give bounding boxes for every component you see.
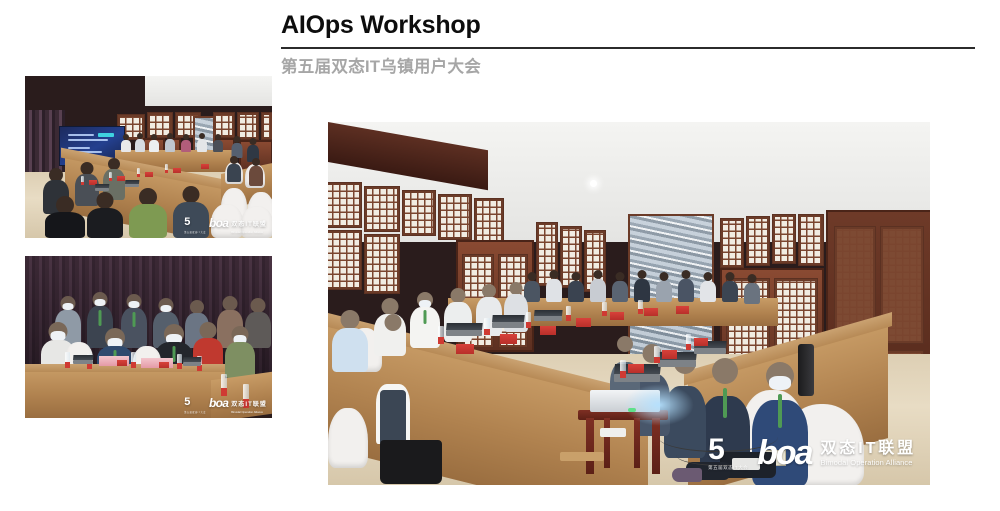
watermark-edition: 5 第五届双态IT大会	[184, 212, 206, 234]
page-title: AIOps Workshop	[281, 8, 975, 42]
watermark-brand: 双态IT联盟 Bimodal Operation Alliance	[231, 393, 267, 414]
watermark-thumb-top: 5 第五届双态IT大会 boa 双态IT联盟 Bimodal Operation…	[184, 212, 267, 234]
page-subtitle: 第五届双态IT乌镇用户大会	[281, 56, 975, 78]
watermark-main: 5 第五届双态IT大会 boa 双态IT联盟 Bimodal Operation…	[708, 435, 916, 471]
watermark-thumb-bottom: 5 第五届双态IT大会 boa 双态IT联盟 Bimodal Operation…	[184, 392, 267, 414]
scene-main	[328, 122, 930, 485]
boa-logo-icon: boa	[209, 217, 228, 229]
photo-main[interactable]: 5 第五届双态IT大会 boa 双态IT联盟 Bimodal Operation…	[328, 122, 930, 485]
watermark-edition: 5 第五届双态IT大会	[708, 435, 748, 471]
boa-logo-icon: boa	[209, 397, 228, 409]
watermark-brand: 双态IT联盟 Bimodal Operation Alliance	[821, 440, 917, 467]
slide-canvas: AIOps Workshop 第五届双态IT乌镇用户大会	[0, 0, 1000, 511]
photo-thumb-bottom[interactable]: 5 第五届双态IT大会 boa 双态IT联盟 Bimodal Operation…	[25, 256, 272, 418]
watermark-brand: 双态IT联盟 Bimodal Operation Alliance	[231, 213, 267, 234]
watermark-edition: 5 第五届双态IT大会	[184, 392, 206, 414]
title-divider	[281, 47, 975, 49]
slide-header: AIOps Workshop 第五届双态IT乌镇用户大会	[281, 8, 975, 78]
boa-logo-icon: boa	[757, 436, 811, 470]
photo-thumb-top[interactable]: 5 第五届双态IT大会 boa 双态IT联盟 Bimodal Operation…	[25, 76, 272, 238]
